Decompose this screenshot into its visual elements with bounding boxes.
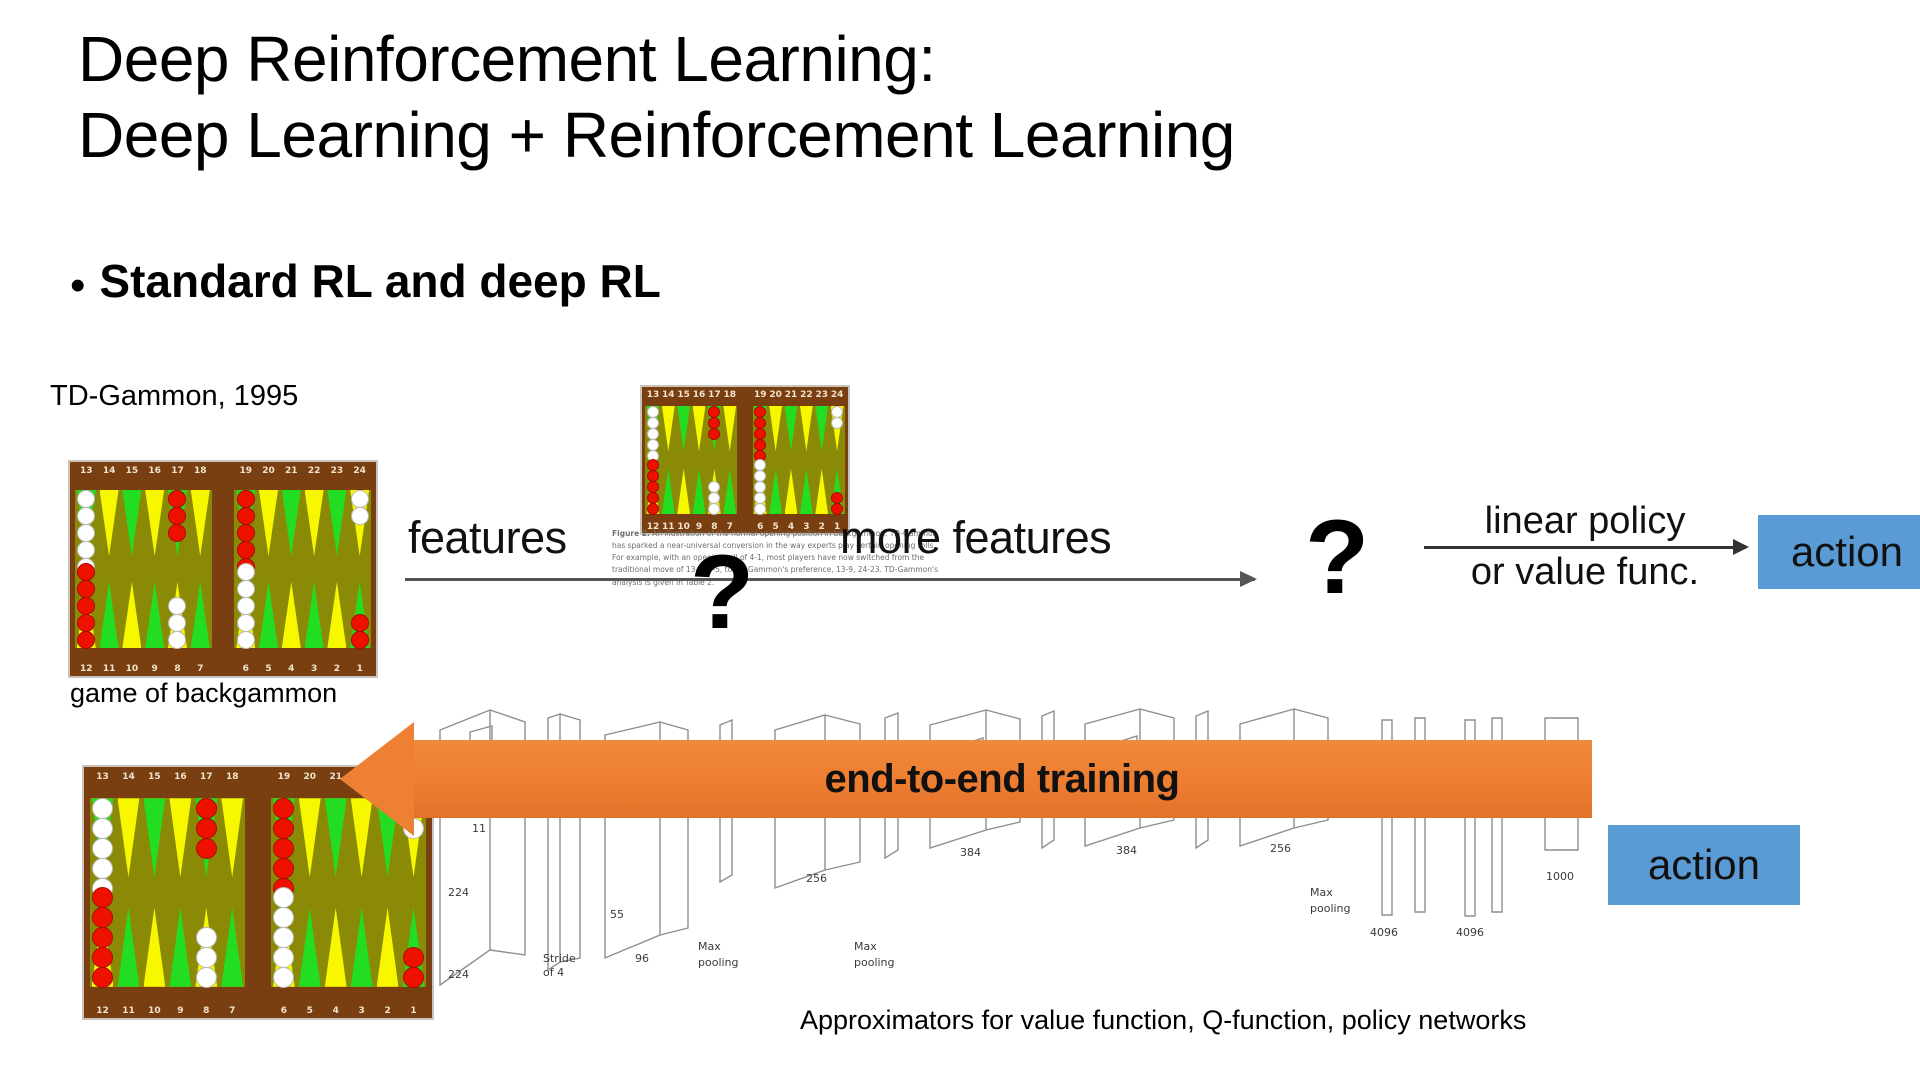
board-point-numbers: 121110987654321 [70, 664, 376, 674]
checker-white [168, 631, 186, 649]
checker-red [77, 614, 95, 632]
checker-white [92, 838, 113, 859]
board-point-number: 14 [98, 466, 121, 476]
checker-stack [234, 490, 257, 575]
board-bar [741, 387, 750, 533]
board-point [303, 490, 326, 557]
checker-white [77, 507, 95, 525]
checker-red [708, 428, 720, 440]
board-point-number: 21 [783, 390, 798, 400]
board-triangle [169, 798, 191, 877]
board-point [166, 582, 189, 649]
policy-label-top: linear policy [1420, 502, 1750, 542]
board-point-row [753, 406, 845, 452]
board-point [280, 582, 303, 649]
checker-white [351, 507, 369, 525]
board-triangle [305, 490, 324, 557]
board-triangle [723, 469, 736, 515]
board-point-number: 16 [167, 772, 193, 782]
checker-white [647, 428, 659, 440]
checker-stack [90, 798, 116, 898]
board-triangle [169, 908, 191, 987]
board-point-number: 5 [257, 664, 280, 674]
board-point [234, 490, 257, 557]
checker-white [237, 631, 255, 649]
checker-white [273, 927, 294, 948]
board-point [691, 406, 706, 452]
board-point [271, 798, 297, 877]
slide-canvas: Deep Reinforcement Learning: Deep Learni… [0, 0, 1920, 1070]
board-point [768, 406, 783, 452]
checker-white [92, 858, 113, 879]
board-point [90, 908, 116, 987]
board-point-number: 23 [814, 390, 829, 400]
more-features-label: more features [840, 512, 1111, 564]
board-point-number: 9 [167, 1006, 193, 1016]
end-to-end-training-arrow: end-to-end training [412, 740, 1592, 818]
board-point [348, 582, 371, 649]
board-triangle [693, 406, 706, 452]
action-box-top: action [1758, 515, 1920, 589]
board-point [661, 469, 676, 515]
checker-red [196, 838, 217, 859]
board-point [75, 582, 98, 649]
checker-red [647, 503, 659, 515]
board-point-number: 2 [375, 1006, 401, 1016]
board-point [193, 908, 219, 987]
board-point-number: 20 [768, 390, 783, 400]
checker-white [168, 597, 186, 615]
board-triangle [377, 908, 399, 987]
checker-red [168, 524, 186, 542]
checker-red [273, 838, 294, 859]
board-point-row [75, 490, 212, 557]
board-triangle [723, 406, 736, 452]
board-point [189, 582, 212, 649]
checker-red [237, 541, 255, 559]
svg-text:pooling: pooling [1310, 902, 1351, 915]
checker-white [647, 417, 659, 429]
checker-white [92, 818, 113, 839]
bullet-item: • Standard RL and deep RL [70, 258, 661, 308]
board-triangle [299, 908, 321, 987]
checker-white [831, 406, 843, 418]
board-triangle [282, 582, 301, 649]
caption-game-of-backgammon: game of backgammon [70, 678, 337, 709]
board-point [799, 406, 814, 452]
checker-stack [271, 887, 297, 987]
board-point-row [90, 908, 246, 987]
board-point-number: 7 [219, 1006, 245, 1016]
svg-text:256: 256 [1270, 842, 1291, 855]
board-point-number: 8 [166, 664, 189, 674]
board-point-number: 11 [98, 664, 121, 674]
caption-approximators: Approximators for value function, Q-func… [800, 1005, 1526, 1036]
board-point-number: 13 [645, 390, 660, 400]
checker-stack [753, 459, 768, 514]
checker-white [92, 798, 113, 819]
checker-white [196, 927, 217, 948]
board-point-row [75, 582, 212, 649]
checker-red [351, 614, 369, 632]
board-triangle [191, 582, 210, 649]
board-inner [642, 387, 848, 533]
checker-red [92, 907, 113, 928]
features-arrow [405, 578, 1255, 581]
board-point [167, 798, 193, 877]
board-point [829, 406, 844, 452]
board-point-number: 9 [143, 664, 166, 674]
checker-white [237, 580, 255, 598]
board-triangle [100, 582, 119, 649]
board-half [645, 406, 737, 515]
checker-red [196, 818, 217, 839]
checker-stack [645, 459, 660, 514]
board-point [75, 490, 98, 557]
checker-stack [707, 481, 722, 514]
checker-stack [193, 927, 219, 987]
board-point [323, 908, 349, 987]
checker-stack [829, 406, 844, 428]
board-point [783, 406, 798, 452]
board-point-number: 22 [303, 466, 326, 476]
checker-red [237, 490, 255, 508]
board-point-number: 14 [116, 772, 142, 782]
board-point [280, 490, 303, 557]
board-triangle [351, 908, 373, 987]
board-triangle [800, 406, 813, 452]
board-point [326, 582, 349, 649]
checker-red [403, 967, 424, 988]
svg-text:pooling: pooling [854, 956, 895, 969]
board-triangle [122, 490, 141, 557]
board-triangle [118, 908, 140, 987]
board-point [722, 406, 737, 452]
board-triangle [815, 406, 828, 452]
checker-stack [348, 614, 371, 648]
board-point-row [90, 798, 246, 877]
checker-red [754, 417, 766, 429]
board-point-number: 24 [829, 390, 844, 400]
checker-white [273, 887, 294, 908]
checker-white [168, 614, 186, 632]
board-point-number: 7 [189, 664, 212, 674]
board-point [401, 908, 427, 987]
board-point [645, 469, 660, 515]
board-point [676, 469, 691, 515]
checker-red [77, 631, 95, 649]
board-point [814, 469, 829, 515]
board-triangle [662, 469, 675, 515]
checker-red [168, 507, 186, 525]
question-mark-icon-1: ? [690, 540, 754, 645]
board-point-number: 18 [722, 390, 737, 400]
board-half [75, 490, 212, 649]
svg-text:11: 11 [472, 822, 486, 835]
board-point-row [234, 490, 371, 557]
svg-text:55: 55 [610, 908, 624, 921]
board-point [98, 490, 121, 557]
board-point [326, 490, 349, 557]
checker-white [273, 967, 294, 988]
action-box-bottom: action [1608, 825, 1800, 905]
checker-stack [234, 563, 257, 648]
board-inner [70, 462, 376, 676]
svg-text:4096: 4096 [1456, 926, 1484, 939]
checker-red [708, 417, 720, 429]
board-point-number: 3 [349, 1006, 375, 1016]
action-box-top-label: action [1791, 528, 1903, 576]
checker-red [754, 406, 766, 418]
checker-stack [166, 490, 189, 541]
board-point [676, 406, 691, 452]
end-to-end-training-label: end-to-end training [825, 757, 1180, 802]
board-point [193, 798, 219, 877]
svg-text:Stride: Stride [543, 952, 576, 965]
board-triangle [191, 490, 210, 557]
board-point-number: 3 [303, 664, 326, 674]
board-point [375, 908, 401, 987]
board-point-number: 19 [753, 390, 768, 400]
board-point-number: 12 [75, 664, 98, 674]
board-point-number: 5 [297, 1006, 323, 1016]
checker-white [273, 947, 294, 968]
board-point [297, 798, 323, 877]
board-triangle [259, 490, 278, 557]
board-half [234, 490, 371, 649]
checker-white [77, 524, 95, 542]
board-point [141, 798, 167, 877]
board-point-number: 19 [234, 466, 257, 476]
board-triangle [800, 469, 813, 515]
bullet-marker: • [70, 264, 85, 308]
checker-white [237, 597, 255, 615]
board-point-number: 13 [75, 466, 98, 476]
board-triangle [259, 582, 278, 649]
checker-red [754, 439, 766, 451]
figure-caption-lead: Figure 2. [612, 529, 650, 538]
board-point-numbers: 131415161718192021222324 [642, 390, 848, 400]
board-bar [251, 767, 266, 1018]
board-point [814, 406, 829, 452]
board-point [90, 798, 116, 877]
checker-white [708, 503, 720, 515]
board-point-numbers: 131415161718192021222324 [70, 466, 376, 476]
board-point-number: 15 [676, 390, 691, 400]
board-point [661, 406, 676, 452]
checker-red [273, 798, 294, 819]
question-mark-icon-2: ? [1305, 505, 1369, 610]
board-triangle [144, 908, 166, 987]
board-triangle [145, 582, 164, 649]
checker-red [92, 927, 113, 948]
svg-text:224: 224 [448, 968, 469, 981]
checker-red [77, 597, 95, 615]
checker-stack [193, 798, 219, 858]
policy-arrow-group: linear policy or value func. [1420, 502, 1750, 593]
checker-red [237, 507, 255, 525]
checker-red [168, 490, 186, 508]
board-point-number: 1 [348, 664, 371, 674]
board-point [257, 490, 280, 557]
backgammon-board-top: 131415161718192021222324121110987654321 [68, 460, 378, 678]
board-point [349, 908, 375, 987]
svg-text:224: 224 [448, 886, 469, 899]
checker-white [351, 490, 369, 508]
checker-white [831, 417, 843, 429]
board-point-number: 17 [193, 772, 219, 782]
board-point [707, 469, 722, 515]
checker-stack [401, 947, 427, 987]
svg-text:96: 96 [635, 952, 649, 965]
checker-stack [753, 406, 768, 461]
board-triangle [327, 490, 346, 557]
checker-white [77, 490, 95, 508]
board-point-row [753, 469, 845, 515]
checker-white [77, 541, 95, 559]
board-bar [217, 462, 230, 676]
checker-stack [348, 490, 371, 524]
board-point [116, 798, 142, 877]
board-point-number: 18 [189, 466, 212, 476]
board-point [829, 469, 844, 515]
caption-tdgammon: TD-Gammon, 1995 [50, 380, 298, 413]
board-triangle [325, 908, 347, 987]
board-triangle [785, 469, 798, 515]
board-triangle [769, 406, 782, 452]
checker-red [92, 887, 113, 908]
board-triangle [693, 469, 706, 515]
board-point-row [645, 469, 737, 515]
board-point [303, 582, 326, 649]
board-point [722, 469, 737, 515]
checker-white [647, 406, 659, 418]
board-point-number: 24 [348, 466, 371, 476]
svg-text:Max: Max [698, 940, 721, 953]
board-point-number: 15 [120, 466, 143, 476]
board-point-number: 6 [234, 664, 257, 674]
board-triangle [305, 582, 324, 649]
checker-red [273, 818, 294, 839]
checker-red [237, 524, 255, 542]
bullet-label: Standard RL and deep RL [99, 258, 660, 304]
board-point-number: 13 [90, 772, 116, 782]
svg-text:of 4: of 4 [543, 966, 564, 979]
board-point [120, 582, 143, 649]
svg-text:4096: 4096 [1370, 926, 1398, 939]
board-triangle [327, 582, 346, 649]
board-point-number: 18 [219, 772, 245, 782]
board-triangle [677, 406, 690, 452]
checker-red [754, 428, 766, 440]
board-point-number: 20 [257, 466, 280, 476]
board-point-number: 8 [193, 1006, 219, 1016]
board-triangle [221, 798, 243, 877]
board-point-row [645, 406, 737, 452]
board-half [753, 406, 845, 515]
checker-red [92, 967, 113, 988]
checker-stack [75, 563, 98, 648]
board-triangle [769, 469, 782, 515]
checker-white [237, 614, 255, 632]
board-point [143, 490, 166, 557]
board-point-number: 10 [141, 1006, 167, 1016]
board-point [753, 406, 768, 452]
board-triangle [785, 406, 798, 452]
board-point [707, 406, 722, 452]
svg-text:pooling: pooling [698, 956, 739, 969]
board-triangle [145, 490, 164, 557]
board-triangle [815, 469, 828, 515]
board-point-number: 4 [323, 1006, 349, 1016]
checker-stack [645, 406, 660, 461]
board-point [166, 490, 189, 557]
board-point-number: 20 [297, 772, 323, 782]
board-triangle [118, 798, 140, 877]
board-point-row [234, 582, 371, 649]
board-triangle [299, 798, 321, 877]
checker-stack [271, 798, 297, 898]
board-point [219, 908, 245, 987]
svg-text:384: 384 [1116, 844, 1137, 857]
board-triangle [144, 798, 166, 877]
checker-red [403, 947, 424, 968]
checker-red [708, 406, 720, 418]
checker-stack [90, 887, 116, 987]
board-point [141, 908, 167, 987]
board-point-number: 17 [166, 466, 189, 476]
board-triangle [100, 490, 119, 557]
checker-stack [75, 490, 98, 575]
board-point-numbers: 121110987654321 [84, 1006, 432, 1016]
arrow-head-icon [340, 722, 414, 836]
board-point [768, 469, 783, 515]
page-title: Deep Reinforcement Learning: Deep Learni… [78, 22, 1778, 173]
board-triangle [221, 908, 243, 987]
board-point-number: 23 [326, 466, 349, 476]
checker-red [351, 631, 369, 649]
board-point [234, 582, 257, 649]
checker-red [196, 798, 217, 819]
board-point-number: 19 [271, 772, 297, 782]
board-point [645, 406, 660, 452]
board-point [348, 490, 371, 557]
board-point [271, 908, 297, 987]
board-half [90, 798, 246, 986]
policy-label-bottom: or value func. [1420, 553, 1750, 593]
action-box-bottom-label: action [1648, 841, 1760, 889]
board-triangle [677, 469, 690, 515]
svg-text:1000: 1000 [1546, 870, 1574, 883]
board-point [189, 490, 212, 557]
board-point-row [271, 908, 427, 987]
checker-white [237, 563, 255, 581]
board-point-number: 4 [280, 664, 303, 674]
checker-white [754, 503, 766, 515]
checker-white [647, 439, 659, 451]
board-point-number: 17 [707, 390, 722, 400]
board-point-number: 11 [116, 1006, 142, 1016]
checker-white [273, 907, 294, 928]
board-point [783, 469, 798, 515]
svg-text:384: 384 [960, 846, 981, 859]
checker-stack [707, 406, 722, 439]
board-point-number: 2 [326, 664, 349, 674]
board-point [143, 582, 166, 649]
board-point-number: 15 [141, 772, 167, 782]
board-triangle [662, 406, 675, 452]
board-point-number: 1 [401, 1006, 427, 1016]
